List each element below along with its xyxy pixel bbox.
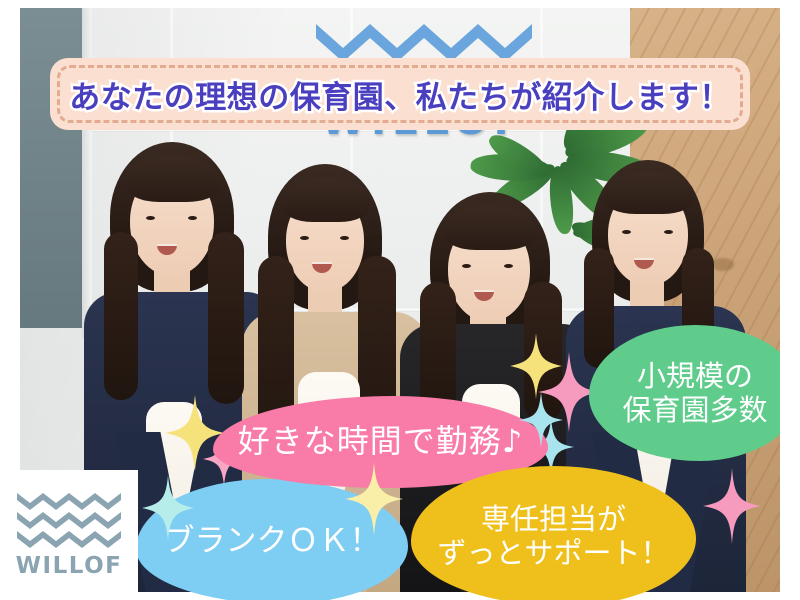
zigzag-chevron-icon bbox=[17, 492, 121, 548]
frame-margin-right bbox=[780, 0, 800, 600]
headline-text: あなたの理想の保育園、私たちが紹介します！ bbox=[69, 72, 731, 117]
sparkle-cyan-pink-blob-icon bbox=[519, 392, 563, 448]
bubble-green-line-1: 小規模の bbox=[622, 359, 767, 393]
willof-logo-text: WILLOF bbox=[16, 553, 123, 579]
headline-banner: あなたの理想の保育園、私たちが紹介します！ bbox=[50, 58, 750, 130]
sparkle-yellow-blue-blob-icon bbox=[345, 462, 403, 536]
sparkle-pink-right-icon bbox=[703, 468, 761, 544]
left-wall-panel bbox=[20, 8, 82, 328]
bubble-yellow-line-1: 専任担当が bbox=[437, 502, 669, 536]
frame-margin-top bbox=[0, 0, 800, 8]
bubble-yellow-line-2: ずっとサポート！ bbox=[437, 536, 669, 570]
poster-root: WILLOF bbox=[0, 0, 800, 600]
willof-logo-card: WILLOF bbox=[0, 470, 138, 600]
sparkle-cyan-blue-blob-icon bbox=[142, 475, 194, 541]
bubble-pink-line-1: 好きな時間で勤務♪ bbox=[238, 423, 523, 461]
bubble-green-line-2: 保育園多数 bbox=[622, 393, 767, 427]
bubble-green: 小規模の 保育園多数 bbox=[589, 325, 800, 461]
